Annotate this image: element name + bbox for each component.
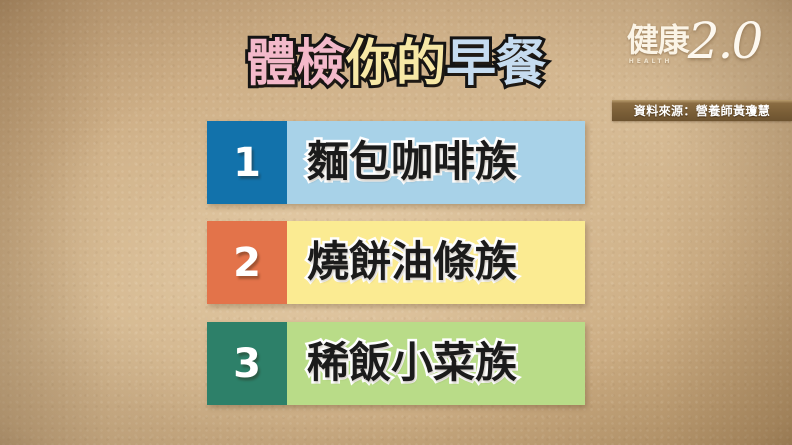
source-text: 資料來源：營養師黃瓊慧 bbox=[634, 102, 770, 119]
list-item-number-box: 1 bbox=[207, 121, 287, 204]
list-item-body: 稀飯小菜族 bbox=[287, 322, 585, 405]
list-item-label: 燒餅油條族 bbox=[307, 240, 517, 284]
list-item: 1 麵包咖啡族 bbox=[207, 121, 585, 204]
title-segment-1: 體檢 bbox=[246, 36, 346, 90]
list-item-number: 3 bbox=[233, 344, 261, 384]
broadcast-graphic: 健康 HEALTH 2.0 資料來源：營養師黃瓊慧 體檢你的早餐 1 麵包咖啡族… bbox=[0, 0, 792, 445]
list-item-number-box: 2 bbox=[207, 221, 287, 304]
title-segment-2: 你的 bbox=[346, 36, 446, 90]
list-item: 2 燒餅油條族 bbox=[207, 221, 585, 304]
list-item-number: 2 bbox=[233, 243, 261, 283]
list-item-label: 稀飯小菜族 bbox=[307, 341, 517, 385]
list-item-body: 燒餅油條族 bbox=[287, 221, 585, 304]
list-item-label: 麵包咖啡族 bbox=[307, 140, 517, 184]
list-item-number: 1 bbox=[233, 143, 261, 183]
list-item-body: 麵包咖啡族 bbox=[287, 121, 585, 204]
page-title: 體檢你的早餐 bbox=[0, 36, 792, 90]
list-item-number-box: 3 bbox=[207, 322, 287, 405]
list-item: 3 稀飯小菜族 bbox=[207, 322, 585, 405]
source-bar: 資料來源：營養師黃瓊慧 bbox=[612, 100, 792, 121]
title-segment-3: 早餐 bbox=[446, 36, 546, 90]
